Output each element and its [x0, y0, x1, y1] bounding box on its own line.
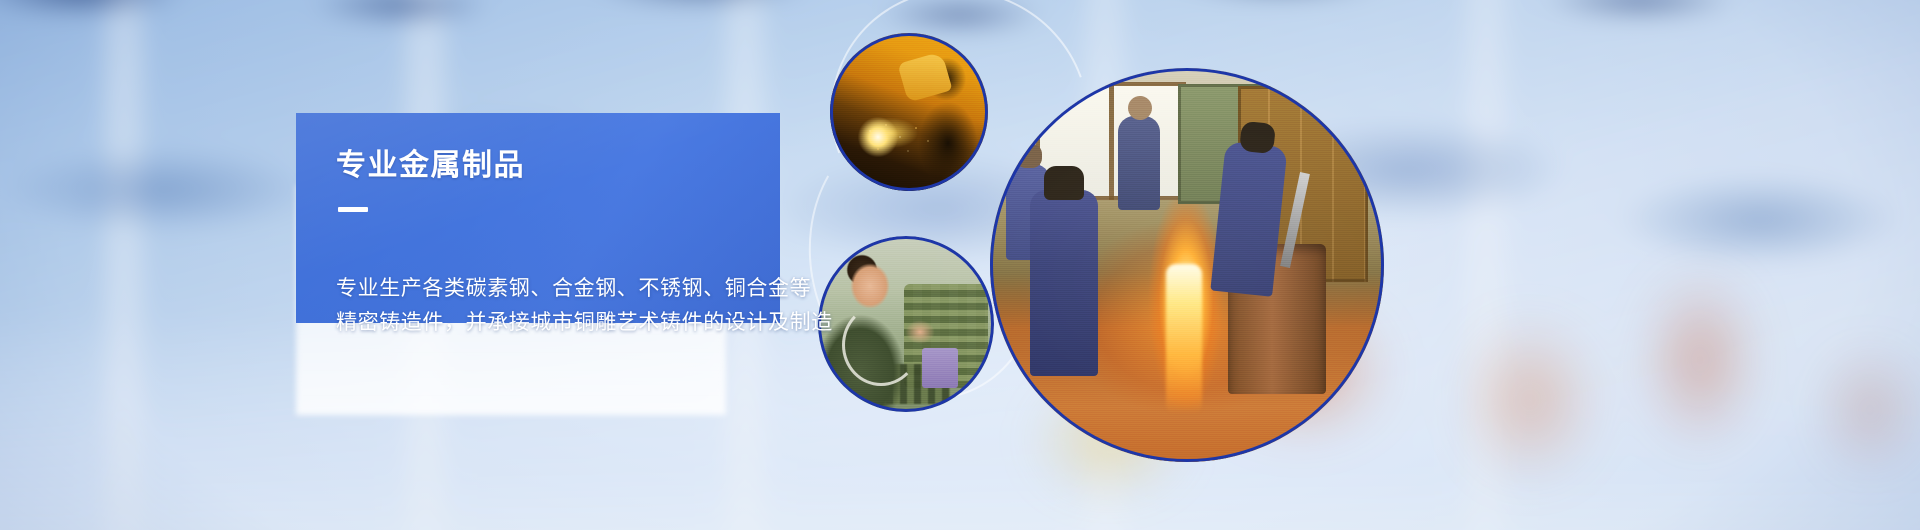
welding-sparks-photo: [830, 33, 988, 191]
photo-grain-overlay: [990, 68, 1384, 462]
photo-collage: [800, 0, 1600, 530]
photo-grain-overlay: [830, 33, 988, 191]
title-underline-rule: [338, 207, 368, 212]
casting-inspection-photo: [818, 236, 994, 412]
photo-grain-overlay: [818, 236, 994, 412]
page-title: 专业金属制品: [336, 149, 780, 182]
foundry-pouring-photo: [990, 68, 1384, 462]
description-line-2: 精密铸造件，并承接城市铜雕艺术铸件的设计及制造: [336, 306, 833, 340]
hero-banner: 专业金属制品 专业生产各类碳素钢、合金钢、不锈钢、铜合金等 精密铸造件，并承接城…: [0, 0, 1920, 530]
banner-description: 专业生产各类碳素钢、合金钢、不锈钢、铜合金等 精密铸造件，并承接城市铜雕艺术铸件…: [336, 272, 833, 340]
description-line-1: 专业生产各类碳素钢、合金钢、不锈钢、铜合金等: [336, 272, 833, 306]
